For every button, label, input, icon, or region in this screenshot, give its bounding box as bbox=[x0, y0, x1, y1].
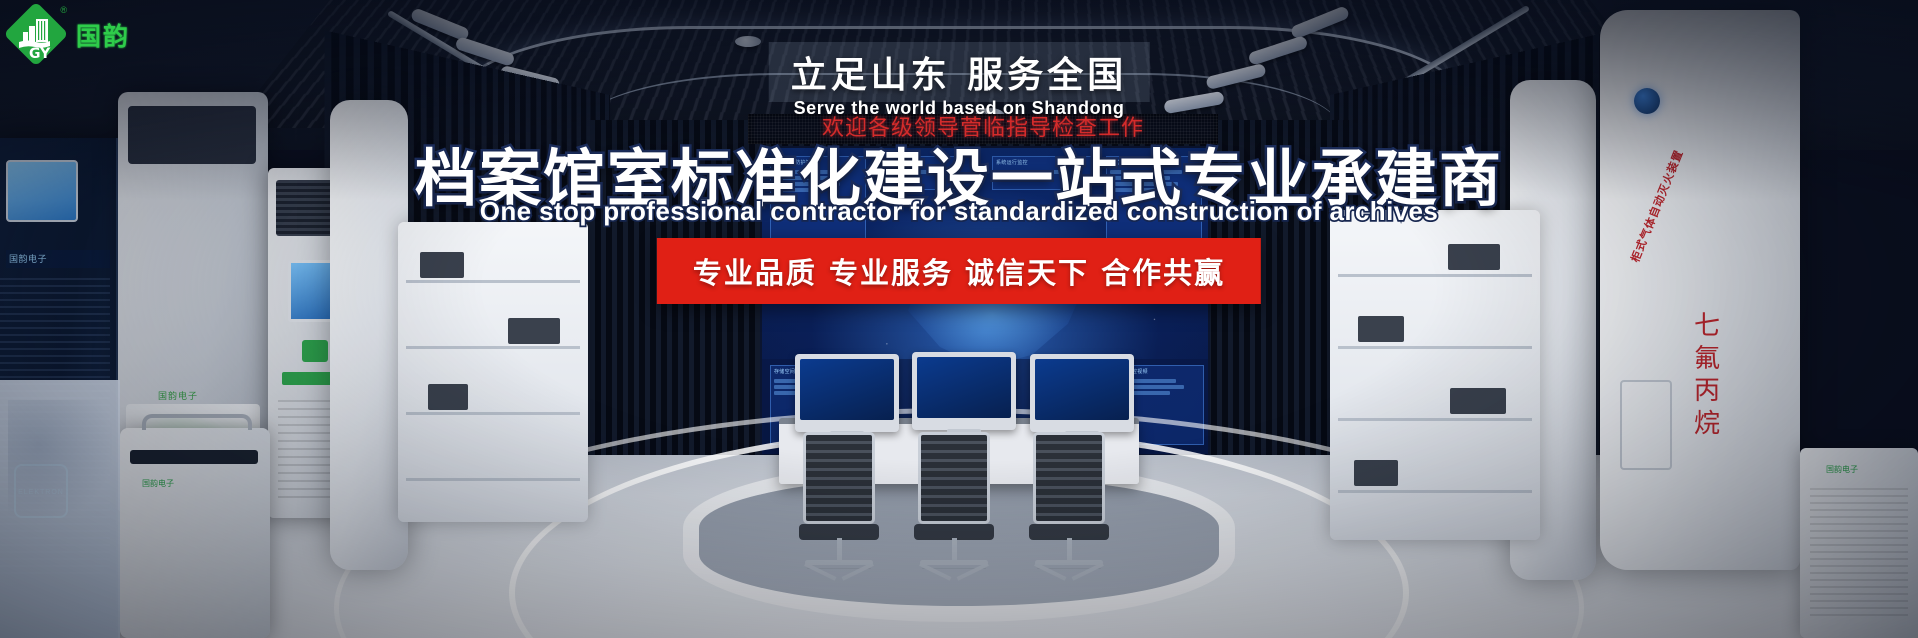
hero-banner: 欢迎各级领导菅临指导检查工作 单位安全防护等级 数据资源总览 系统运行监控 单位… bbox=[0, 0, 1918, 638]
banner-headline-english: One stop professional contractor for sta… bbox=[480, 196, 1439, 227]
svg-text:GY: GY bbox=[29, 46, 51, 62]
logo-brand-text: 国韵 bbox=[76, 17, 130, 53]
led-marquee: 欢迎各级领导菅临指导检查工作 bbox=[748, 114, 1218, 144]
logo-buildings-icon: GY bbox=[8, 6, 66, 64]
registered-trademark-icon: ® bbox=[60, 5, 67, 15]
banner-text-overlay: GY ® 国韵 立足山东 服务全国 Serve the world based … bbox=[0, 0, 1918, 638]
site-logo[interactable]: GY ® 国韵 bbox=[8, 6, 130, 64]
banner-slogan-box: 专业品质 专业服务 诚信天下 合作共赢 bbox=[657, 238, 1261, 304]
banner-kicker: 立足山东 服务全国 bbox=[769, 42, 1150, 102]
led-marquee-text: 欢迎各级领导菅临指导检查工作 bbox=[748, 114, 1218, 144]
banner-slogan-text: 专业品质 专业服务 诚信天下 合作共赢 bbox=[693, 250, 1225, 292]
guoyun-diamond-logo-icon: GY ® bbox=[8, 6, 66, 64]
